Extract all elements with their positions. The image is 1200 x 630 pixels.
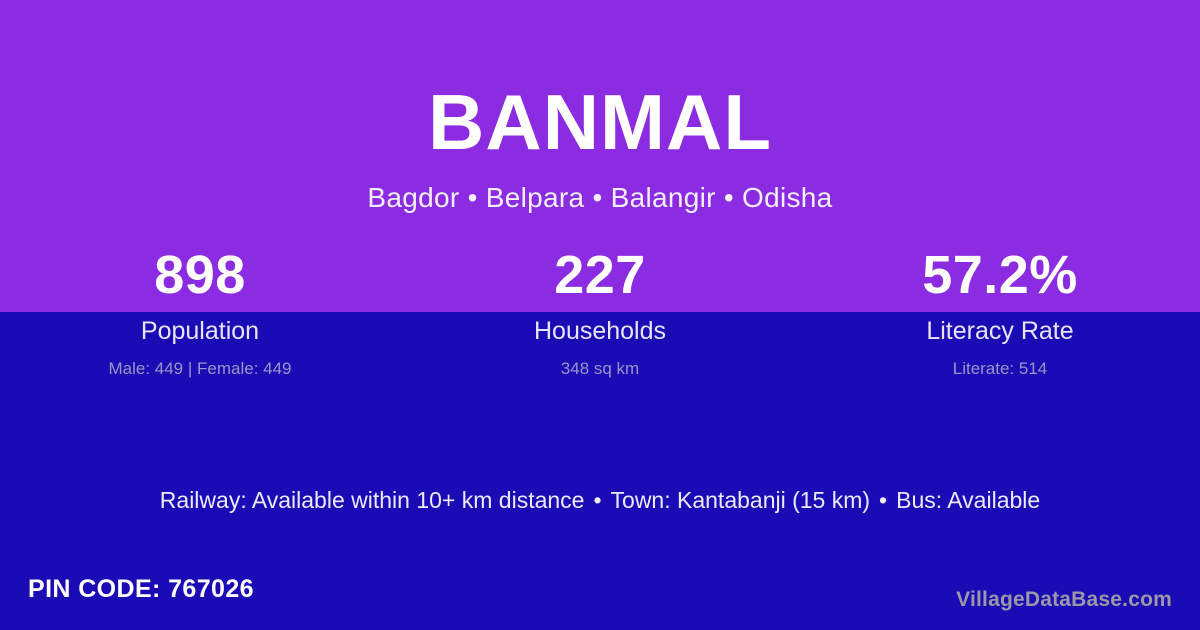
transit-info: Railway: Available within 10+ km distanc… bbox=[0, 487, 1200, 514]
stat-households: 227 Households 348 sq km bbox=[400, 248, 800, 377]
bullet-separator-icon: • bbox=[584, 487, 610, 514]
site-watermark: VillageDataBase.com bbox=[956, 588, 1172, 612]
stat-label-population: Population bbox=[0, 319, 400, 344]
stats-row: 898 Population Male: 449 | Female: 449 2… bbox=[0, 248, 1200, 377]
stat-sub-population: Male: 449 | Female: 449 bbox=[0, 360, 400, 377]
stat-label-households: Households bbox=[400, 319, 800, 344]
stat-value-households: 227 bbox=[400, 248, 800, 302]
stat-literacy-rate: 57.2% Literacy Rate Literate: 514 bbox=[800, 248, 1200, 377]
breadcrumb: Bagdor • Belpara • Balangir • Odisha bbox=[0, 182, 1200, 214]
transit-town: Town: Kantabanji (15 km) bbox=[611, 487, 871, 513]
bullet-separator-icon: • bbox=[870, 487, 896, 514]
pin-code: PIN CODE: 767026 bbox=[28, 575, 254, 604]
stat-value-population: 898 bbox=[0, 248, 400, 302]
stat-sub-literacy-rate: Literate: 514 bbox=[800, 360, 1200, 377]
stat-value-literacy-rate: 57.2% bbox=[800, 248, 1200, 302]
stat-sub-households: 348 sq km bbox=[400, 360, 800, 377]
village-info-card: BANMAL Bagdor • Belpara • Balangir • Odi… bbox=[0, 0, 1200, 630]
transit-railway: Railway: Available within 10+ km distanc… bbox=[160, 487, 585, 513]
stat-population: 898 Population Male: 449 | Female: 449 bbox=[0, 248, 400, 377]
page-title: BANMAL bbox=[0, 82, 1200, 164]
transit-bus: Bus: Available bbox=[896, 487, 1040, 513]
stat-label-literacy-rate: Literacy Rate bbox=[800, 319, 1200, 344]
